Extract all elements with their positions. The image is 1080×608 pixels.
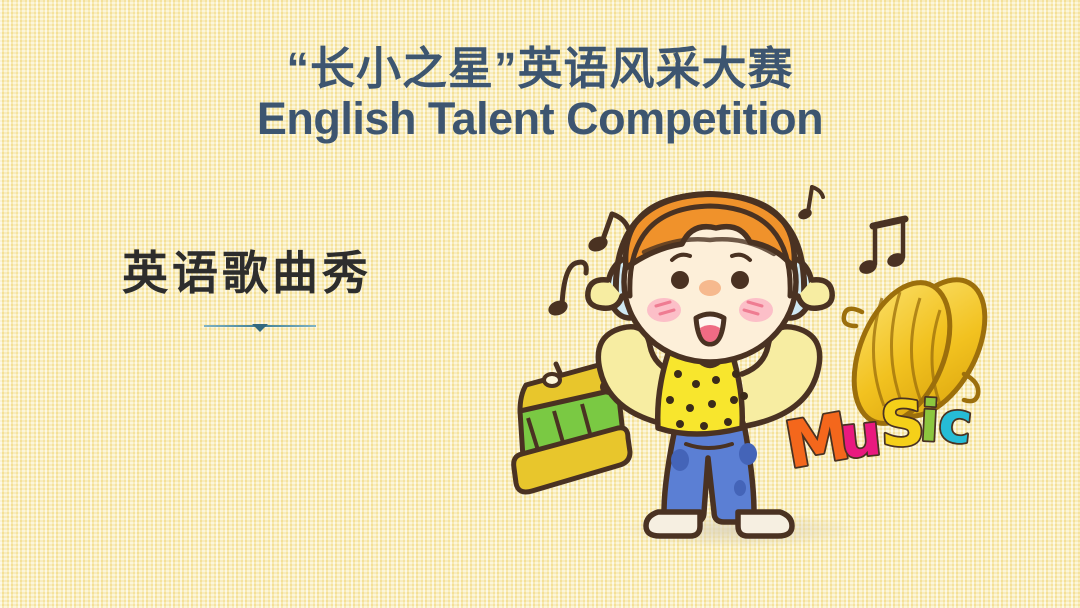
- subtitle-block: 英语歌曲秀: [122, 250, 372, 332]
- illustration-music-scene: M u S i c: [490, 168, 990, 578]
- page-title-english: English Talent Competition: [0, 94, 1080, 144]
- wordart-letter-u: u: [836, 400, 884, 472]
- blush-left: [647, 298, 681, 322]
- eye-right: [731, 271, 749, 289]
- subtitle-text: 英语歌曲秀: [122, 250, 372, 296]
- music-note-right-beamed: [857, 219, 906, 276]
- title-block: “长小之星”英语风采大赛 English Talent Competition: [0, 44, 1080, 145]
- page-title-chinese: “长小之星”英语风采大赛: [0, 44, 1080, 94]
- music-note-left-lower: [546, 262, 586, 318]
- divider-diamond-icon: [252, 324, 268, 332]
- shoe-right: [738, 512, 792, 536]
- wordart-letter-c: c: [936, 389, 976, 457]
- music-note-right-upper: [797, 187, 823, 221]
- subtitle-divider: [204, 322, 316, 332]
- pants: [664, 424, 754, 522]
- eye-left: [671, 271, 689, 289]
- boy-character: [588, 194, 832, 536]
- presentation-slide: “长小之星”英语风采大赛 English Talent Competition …: [0, 0, 1080, 608]
- shoe-left: [646, 512, 700, 536]
- nose: [699, 280, 721, 296]
